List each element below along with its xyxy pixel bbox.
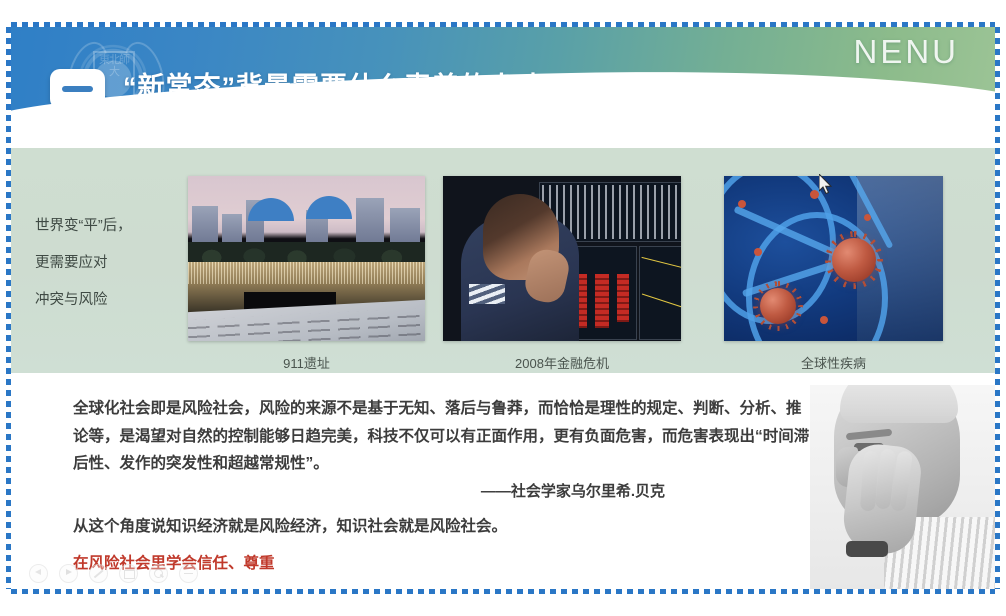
- pen-button[interactable]: [89, 564, 108, 583]
- virus-dot: [738, 200, 746, 208]
- selection-border-bottom: [11, 589, 995, 594]
- slides-button[interactable]: [119, 564, 138, 583]
- media-left-caption: 世界变“平”后， 更需要应对 冲突与风险: [35, 208, 175, 319]
- brand-logo-text: NENU: [853, 33, 959, 71]
- body-paragraph-1: 全球化社会即是风险社会，风险的来源不是基于无知、落后与鲁莽，而恰恰是理性的规定、…: [73, 395, 813, 478]
- photo-global-disease[interactable]: [724, 176, 943, 341]
- virus-dot: [864, 214, 871, 221]
- caption-line-3: 冲突与风险: [35, 282, 175, 319]
- portrait-hair: [840, 385, 958, 423]
- waterfall: [188, 262, 425, 284]
- trading-screen: [639, 246, 681, 340]
- photo-caption-crisis: 2008年金融危机: [443, 353, 681, 372]
- virus-dot: [754, 248, 762, 256]
- photo-financial-crisis[interactable]: [443, 176, 681, 341]
- building: [390, 208, 420, 246]
- virus-cell: [832, 238, 876, 282]
- selection-border-right: [995, 27, 1000, 589]
- building: [356, 198, 384, 246]
- photo-caption-911: 911遗址: [188, 353, 425, 372]
- portrait-watch: [846, 541, 888, 557]
- photo-caption-disease: 全球性疾病: [724, 353, 943, 372]
- jacket-badge: [469, 284, 505, 304]
- caption-line-1: 世界变“平”后，: [35, 208, 175, 245]
- virus-cell: [760, 288, 796, 324]
- virus-dot: [820, 316, 828, 324]
- play-button[interactable]: [59, 564, 78, 583]
- body-panel: 全球化社会即是风险社会，风险的来源不是基于无知、落后与鲁莽，而恰恰是理性的规定、…: [11, 373, 995, 589]
- slide-canvas: 東北師大 1951 “新常态”背景需要什么素养的人才 NENU 世界变“平”后，…: [11, 27, 995, 589]
- caption-line-2: 更需要应对: [35, 245, 175, 282]
- previous-button[interactable]: [29, 564, 48, 583]
- media-panel: 世界变“平”后， 更需要应对 冲突与风险: [11, 148, 995, 373]
- mouse-cursor-icon: [819, 174, 833, 194]
- body-paragraph-2: 从这个角度说知识经济就是风险经济，知识社会就是风险社会。: [73, 513, 813, 541]
- player-toolbar[interactable]: [29, 564, 198, 583]
- slide-header: 東北師大 1951 “新常态”背景需要什么素养的人才 NENU: [11, 27, 995, 122]
- more-button[interactable]: [179, 564, 198, 583]
- photo-911-memorial[interactable]: [188, 176, 425, 341]
- badge-dash: [62, 86, 93, 92]
- slide-selection-frame[interactable]: 東北師大 1951 “新常态”背景需要什么素养的人才 NENU 世界变“平”后，…: [11, 27, 995, 589]
- red-quotes: [617, 274, 629, 322]
- body-text-block: 全球化社会即是风险社会，风险的来源不是基于无知、落后与鲁莽，而恰恰是理性的规定、…: [73, 395, 813, 573]
- red-quotes: [595, 274, 609, 328]
- virus-dot: [810, 190, 819, 199]
- body-attribution: ——社会学家乌尔里希.贝克: [73, 480, 813, 501]
- portrait-ulrich-beck: [810, 385, 995, 589]
- zoom-button[interactable]: [149, 564, 168, 583]
- building: [192, 206, 218, 246]
